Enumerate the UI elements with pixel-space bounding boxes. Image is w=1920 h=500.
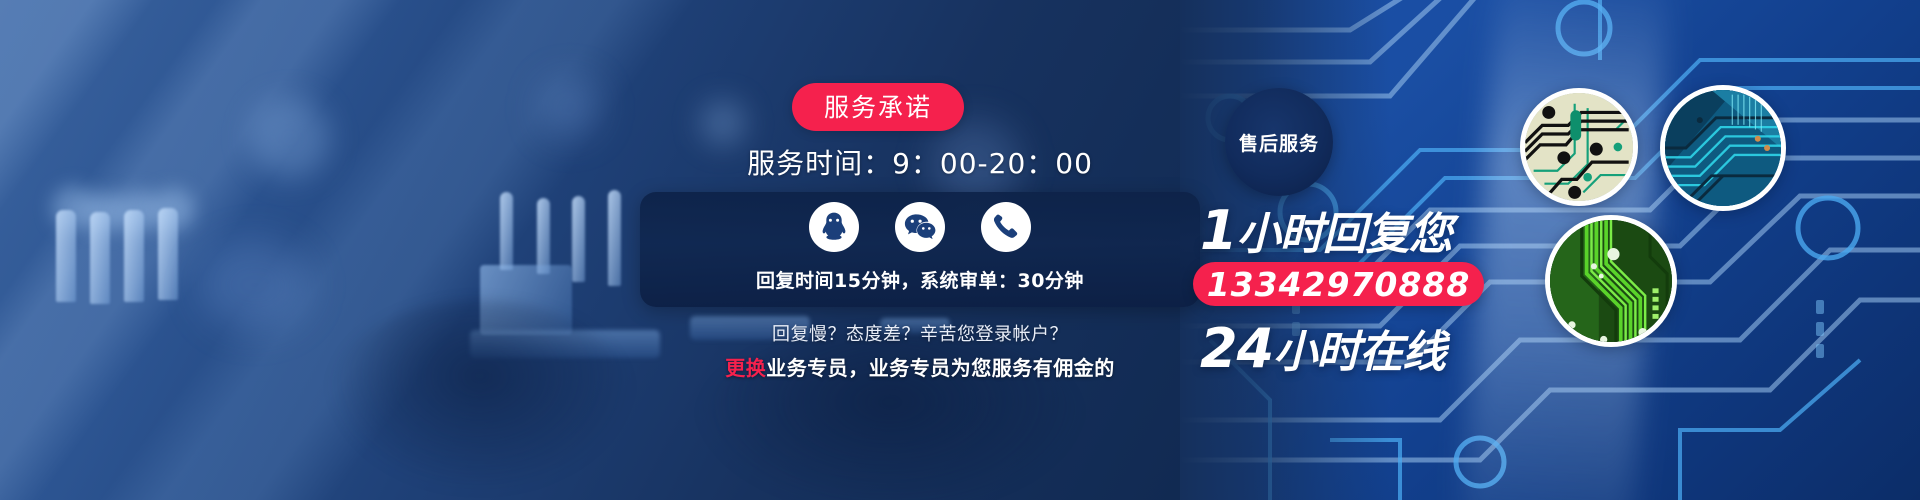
pcb-photo-green <box>1545 215 1677 347</box>
pcb-photo-blue <box>1660 85 1786 211</box>
pcb-pin <box>56 210 76 302</box>
right-content: 售后服务 1小时回复您 13342970888 24小时在线 <box>1190 0 1530 500</box>
bokeh-blur <box>250 98 330 178</box>
change-agent-cta: 更换业务专员，业务专员为您服务有佣金的 <box>640 352 1200 381</box>
pcb-photo-cream <box>1520 88 1638 206</box>
connector-pin <box>537 198 550 274</box>
phone-number-text: 13342970888 <box>1207 268 1471 301</box>
bokeh-blur <box>200 240 310 330</box>
hero-two-text: 小时在线 <box>1273 327 1445 378</box>
hero-one-number: 1 <box>1200 199 1237 262</box>
connector-pin <box>608 190 621 286</box>
qq-icon[interactable] <box>809 202 859 252</box>
after-sale-badge-label: 售后服务 <box>1239 129 1319 156</box>
contact-panel: 回复时间15分钟，系统审单：30分钟 <box>640 192 1200 307</box>
center-content: 服务承诺 服务时间：9：00-20：00 <box>640 0 1200 500</box>
phone-icon[interactable] <box>981 202 1031 252</box>
pcb-pin <box>90 212 110 304</box>
phone-number-pill[interactable]: 13342970888 <box>1193 262 1484 306</box>
pcb-pin <box>158 208 178 300</box>
cta-highlight-text[interactable]: 更换 <box>725 356 766 380</box>
wechat-icon[interactable] <box>895 202 945 252</box>
pcb-pin <box>124 210 144 302</box>
service-promise-badge[interactable]: 服务承诺 <box>792 83 964 131</box>
after-sale-badge[interactable]: 售后服务 <box>1225 88 1333 196</box>
reply-within-one-hour-text: 1小时回复您 <box>1200 198 1452 262</box>
hero-two-number: 24 <box>1200 317 1273 380</box>
hero-one-text: 小时回复您 <box>1237 209 1452 260</box>
contact-icon-row <box>640 202 1200 252</box>
service-time-text: 服务时间：9：00-20：00 <box>640 142 1200 182</box>
online-24h-text: 24小时在线 <box>1200 316 1445 380</box>
service-promise-badge-label: 服务承诺 <box>824 95 932 120</box>
cta-rest-text: 业务专员，业务专员为您服务有佣金的 <box>766 356 1115 380</box>
bokeh-blur <box>540 78 600 138</box>
connector-pin <box>572 196 585 282</box>
reply-time-note: 回复时间15分钟，系统审单：30分钟 <box>640 266 1200 293</box>
connector-pin <box>500 192 513 270</box>
shadow-blob <box>330 300 630 490</box>
complaint-question-text: 回复慢？态度差？辛苦您登录帐户？ <box>640 320 1200 346</box>
service-promise-banner: 服务承诺 服务时间：9：00-20：00 <box>0 0 1920 500</box>
